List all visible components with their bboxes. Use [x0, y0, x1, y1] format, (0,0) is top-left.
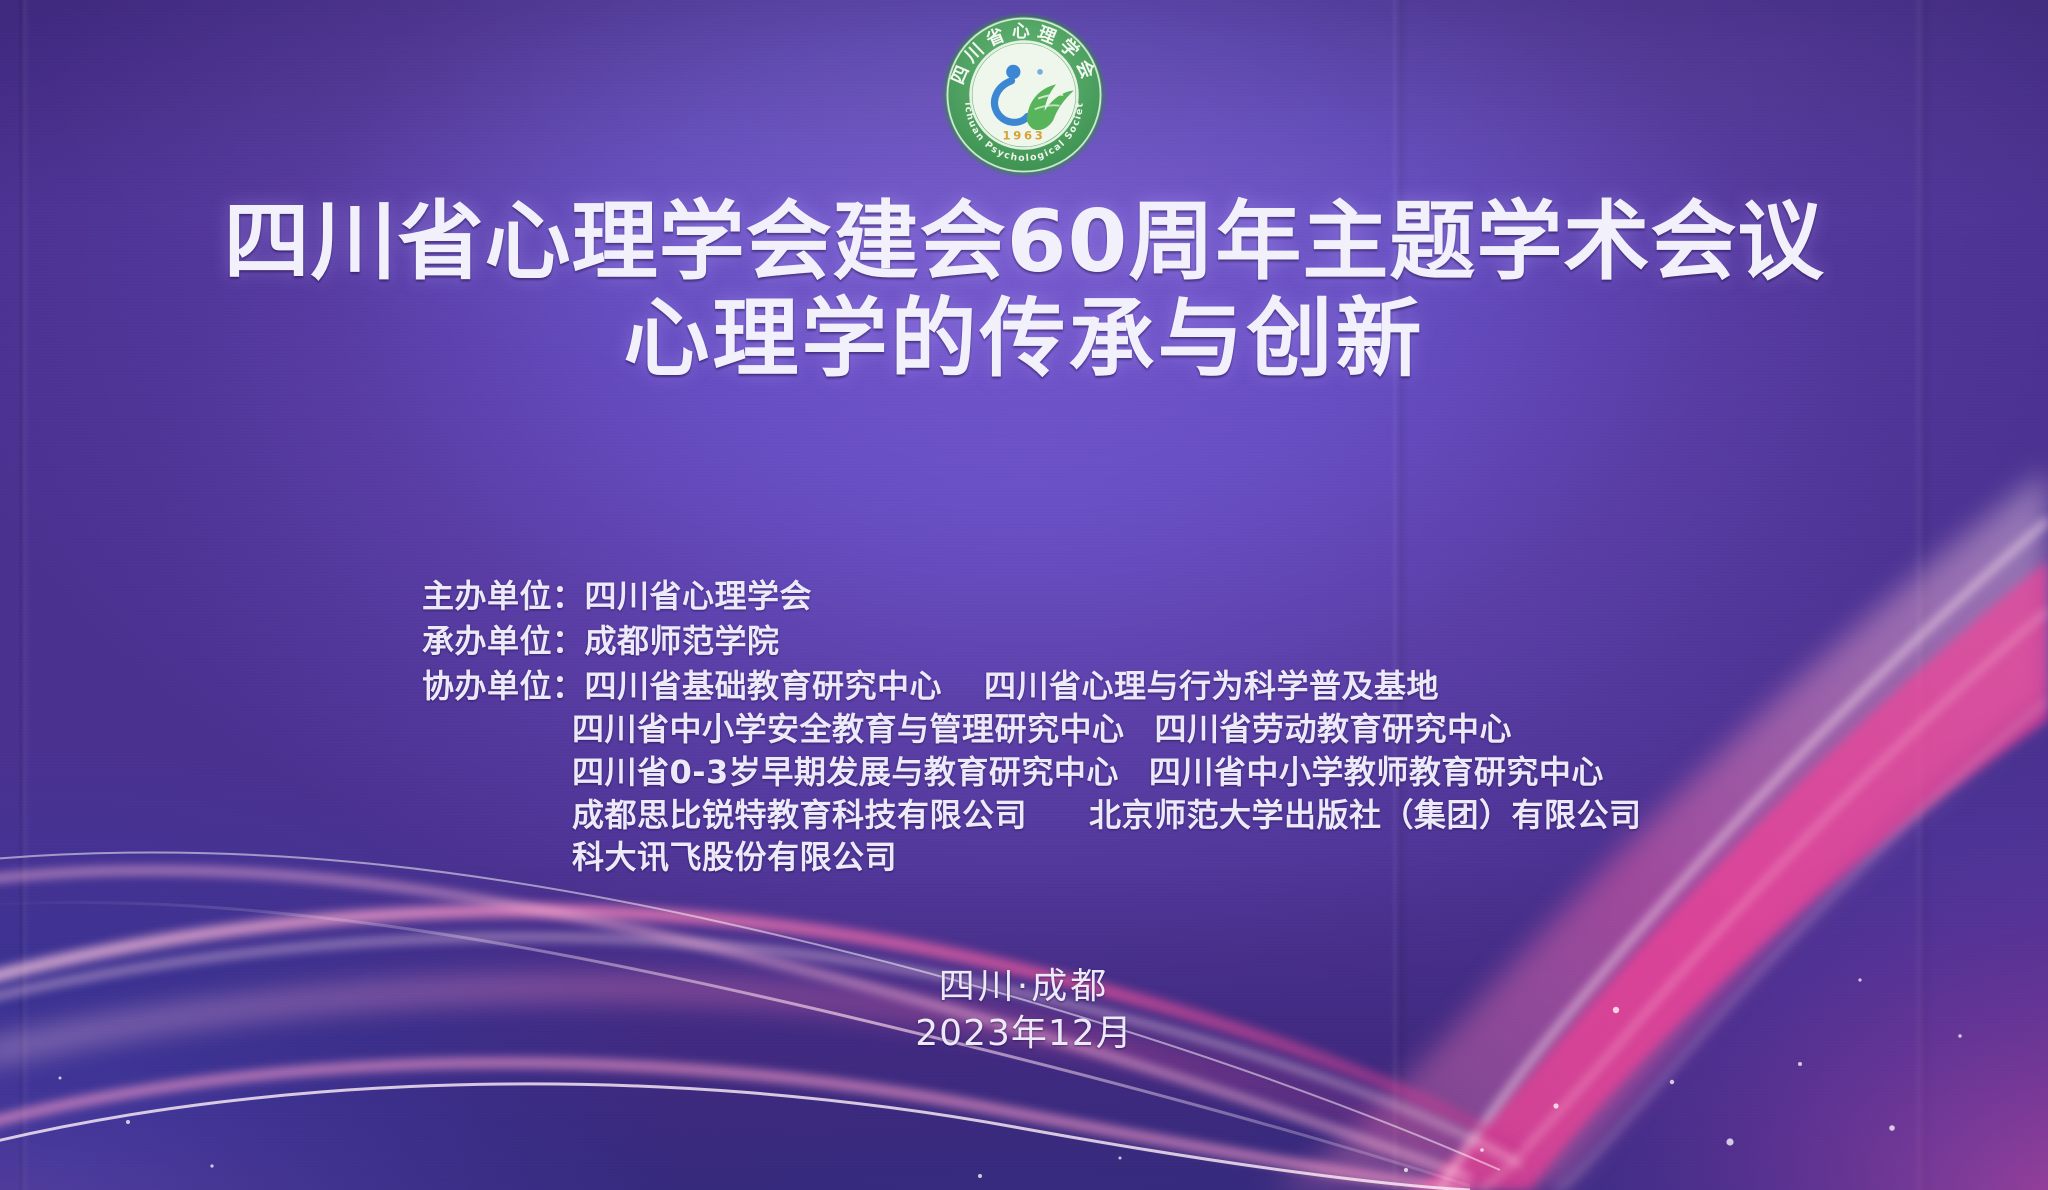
undertaker-value: 成都师范学院	[585, 625, 780, 659]
coorganizer-left-2: 四川省0-3岁早期发展与教育研究中心	[572, 756, 1119, 790]
coorganizer-row: 四川省中小学安全教育与管理研究中心四川省劳动教育研究中心	[422, 713, 1682, 747]
coorganizer-right-3: 北京师范大学出版社（集团）有限公司	[1089, 799, 1642, 833]
coorganizer-row: 科大讯飞股份有限公司	[422, 841, 1682, 875]
conference-banner: 四川省心理学会 Sichuan Psychological Society 19…	[0, 0, 2048, 1190]
coorganizer-left-1: 四川省中小学安全教育与管理研究中心	[572, 713, 1125, 747]
svg-text:1963: 1963	[1003, 129, 1046, 143]
society-emblem-icon: 四川省心理学会 Sichuan Psychological Society 19…	[935, 6, 1113, 184]
coorganizer-right-1: 四川省劳动教育研究中心	[1155, 713, 1513, 747]
coorganizer-row: 协办单位：四川省基础教育研究中心四川省心理与行为科学普及基地	[422, 670, 1682, 704]
page-title: 四川省心理学会建会60周年主题学术会议	[0, 196, 2048, 289]
host-value: 四川省心理学会	[585, 580, 813, 614]
coorganizer-right-2: 四川省中小学教师教育研究中心	[1149, 756, 1604, 790]
coorganizer-left-3: 成都思比锐特教育科技有限公司	[572, 799, 1027, 833]
coorganizer-left-0: 四川省基础教育研究中心	[585, 670, 943, 704]
coorganizer-left-4: 科大讯飞股份有限公司	[572, 841, 897, 875]
banner-footer: 四川·成都 2023年12月	[0, 964, 2048, 1058]
event-location: 四川·成都	[0, 964, 2048, 1010]
undertaker-row: 承办单位：成都师范学院	[422, 625, 1682, 659]
coorganizer-right-0: 四川省心理与行为科学普及基地	[984, 670, 1439, 704]
page-subtitle: 心理学的传承与创新	[0, 289, 2048, 390]
coorganizer-row: 四川省0-3岁早期发展与教育研究中心四川省中小学教师教育研究中心	[422, 756, 1682, 790]
title-block: 四川省心理学会建会60周年主题学术会议 心理学的传承与创新	[0, 196, 2048, 390]
undertaker-label: 承办单位：	[422, 625, 585, 659]
coorganizer-row: 成都思比锐特教育科技有限公司北京师范大学出版社（集团）有限公司	[422, 799, 1682, 833]
organizer-list: 主办单位：四川省心理学会 承办单位：成都师范学院 协办单位：四川省基础教育研究中…	[422, 580, 1682, 884]
host-label: 主办单位：	[422, 580, 585, 614]
host-row: 主办单位：四川省心理学会	[422, 580, 1682, 614]
coorganizer-label: 协办单位：	[422, 670, 585, 704]
event-date: 2023年12月	[0, 1010, 2048, 1058]
